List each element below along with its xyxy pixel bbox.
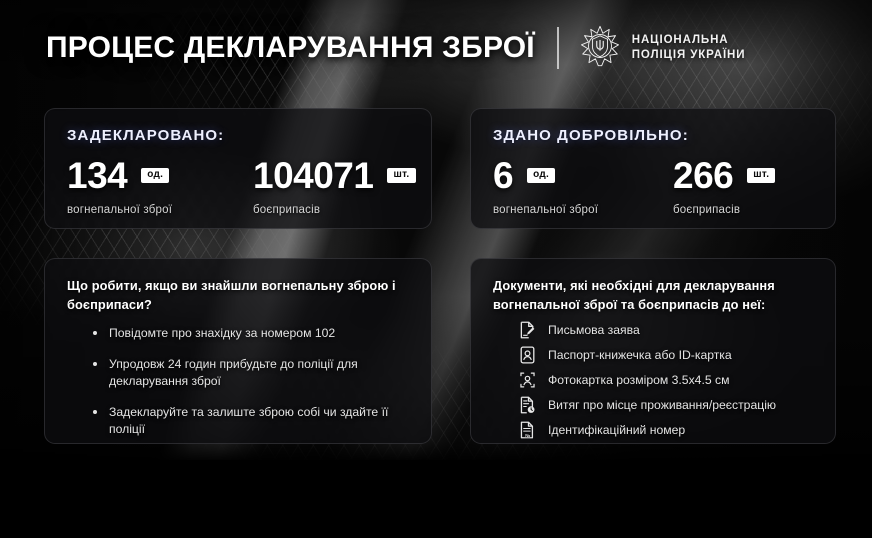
stat-declared-firearms: 134 од. вогнепальної зброї [67,153,253,216]
header: ПРОЦЕС ДЕКЛАРУВАННЯ ЗБРОЇ [46,22,836,74]
stat-voluntary-firearms: 6 од. вогнепальної зброї [493,153,673,216]
documents-list: Письмова заява Паспорт-книжечка або ID-к… [519,321,821,439]
stat-value: 266 [673,157,733,194]
stat-value: 6 [493,157,513,194]
stats-heading-declared: ЗАДЕКЛАРОВАНО: [67,127,224,144]
svg-text:№: № [525,433,530,438]
police-logo: НАЦІОНАЛЬНА ПОЛІЦІЯ УКРАЇНИ [579,25,746,72]
list-item-label: Письмова заява [548,323,640,337]
page-title: ПРОЦЕС ДЕКЛАРУВАННЯ ЗБРОЇ [46,31,535,65]
list-item: Витяг про місце проживання/реєстрацію [519,396,821,414]
info-card-documents: Документи, які необхідні для декларуванн… [470,258,836,444]
infographic-content: ПРОЦЕС ДЕКЛАРУВАННЯ ЗБРОЇ [0,0,872,538]
stat-value: 104071 [253,157,373,194]
list-item: Паспорт-книжечка або ID-картка [519,346,821,364]
stat-unit-badge: шт. [747,168,775,183]
stat-unit-badge: шт. [387,168,415,183]
info-card-what-to-do: Що робити, якщо ви знайшли вогнепальну з… [44,258,432,444]
list-item: Задекларуйте та залиште зброю собі чи зд… [91,404,413,438]
id-card-icon [519,346,536,364]
list-item: Упродовж 24 годин прибудьте до поліції д… [91,356,413,390]
stats-row-declared: 134 од. вогнепальної зброї 104071 шт. бо… [67,153,417,216]
what-to-do-heading: Що робити, якщо ви знайшли вогнепальну з… [67,277,411,314]
stats-card-declared: ЗАДЕКЛАРОВАНО: 134 од. вогнепальної збро… [44,108,432,229]
stat-unit-badge: од. [141,168,169,183]
police-logo-text: НАЦІОНАЛЬНА ПОЛІЦІЯ УКРАЇНИ [632,33,746,63]
police-logo-line-1: НАЦІОНАЛЬНА [632,34,729,46]
stat-topline: 266 шт. [673,153,775,197]
police-star-badge-icon [579,25,621,72]
police-logo-line-2: ПОЛІЦІЯ УКРАЇНИ [632,49,746,61]
list-item: Письмова заява [519,321,821,339]
list-item-label: Ідентифікаційний номер [548,423,685,437]
document-pen-icon [519,321,536,339]
list-item-label: Витяг про місце проживання/реєстрацію [548,398,776,412]
stat-value: 134 [67,157,127,194]
list-item: Фотокартка розміром 3.5х4.5 см [519,371,821,389]
stat-topline: 104071 шт. [253,153,416,197]
document-number-icon: № [519,421,536,439]
list-item-label: Паспорт-книжечка або ID-картка [548,348,732,362]
stat-caption: вогнепальної зброї [493,204,673,216]
stats-heading-voluntary: ЗДАНО ДОБРОВІЛЬНО: [493,127,689,144]
header-divider [557,27,559,69]
list-item: Повідомте про знахідку за номером 102 [91,325,413,342]
stat-caption: боєприпасів [673,204,775,216]
document-clock-icon [519,396,536,414]
stat-topline: 6 од. [493,153,673,197]
stats-card-voluntary: ЗДАНО ДОБРОВІЛЬНО: 6 од. вогнепальної зб… [470,108,836,229]
list-item: № Ідентифікаційний номер [519,421,821,439]
stats-row-voluntary: 6 од. вогнепальної зброї 266 шт. боєприп… [493,153,821,216]
documents-heading: Документи, які необхідні для декларуванн… [493,277,815,314]
photo-portrait-icon [519,371,536,389]
list-item-label: Фотокартка розміром 3.5х4.5 см [548,373,730,387]
stat-declared-ammunition: 104071 шт. боєприпасів [253,153,416,216]
stat-unit-badge: од. [527,168,555,183]
stat-voluntary-ammunition: 266 шт. боєприпасів [673,153,775,216]
stat-topline: 134 од. [67,153,253,197]
stat-caption: боєприпасів [253,204,416,216]
what-to-do-list: Повідомте про знахідку за номером 102 Уп… [91,325,413,438]
stat-caption: вогнепальної зброї [67,204,253,216]
